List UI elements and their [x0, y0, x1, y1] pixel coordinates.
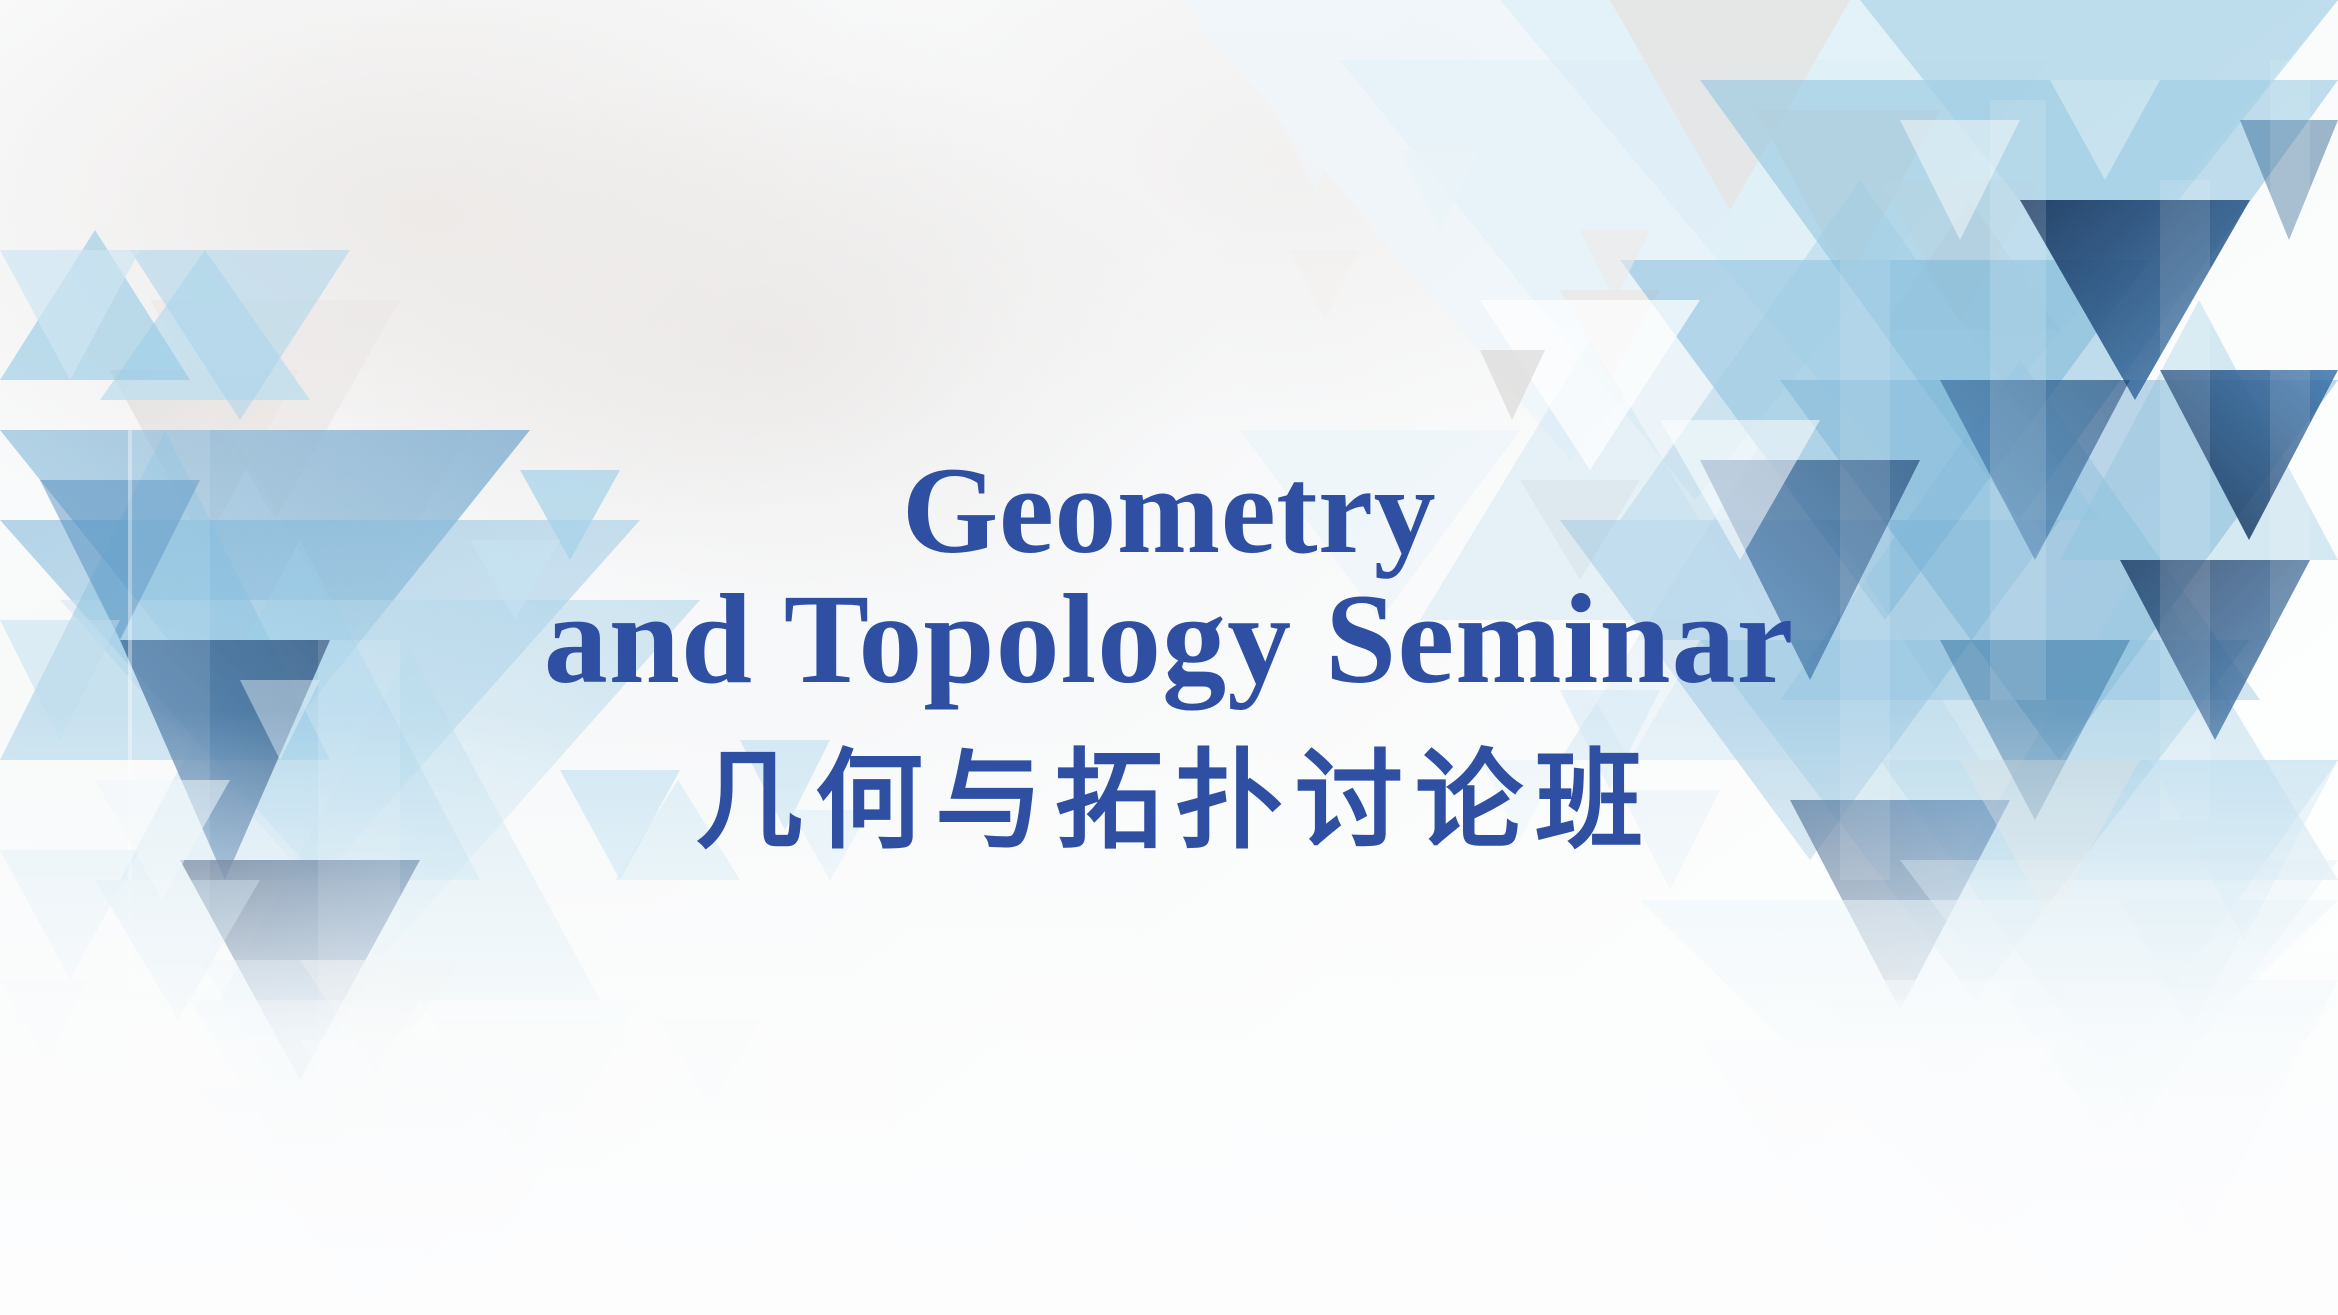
title-slide: Geometry and Topology Seminar 几何与拓扑讨论班: [0, 0, 2338, 1315]
title-block: Geometry and Topology Seminar 几何与拓扑讨论班: [0, 448, 2338, 857]
title-line-1: Geometry: [902, 442, 1436, 579]
page-title: Geometry and Topology Seminar: [0, 448, 2338, 705]
title-line-2: and Topology Seminar: [0, 574, 2338, 705]
subtitle-chinese: 几何与拓扑讨论班: [0, 749, 2338, 857]
